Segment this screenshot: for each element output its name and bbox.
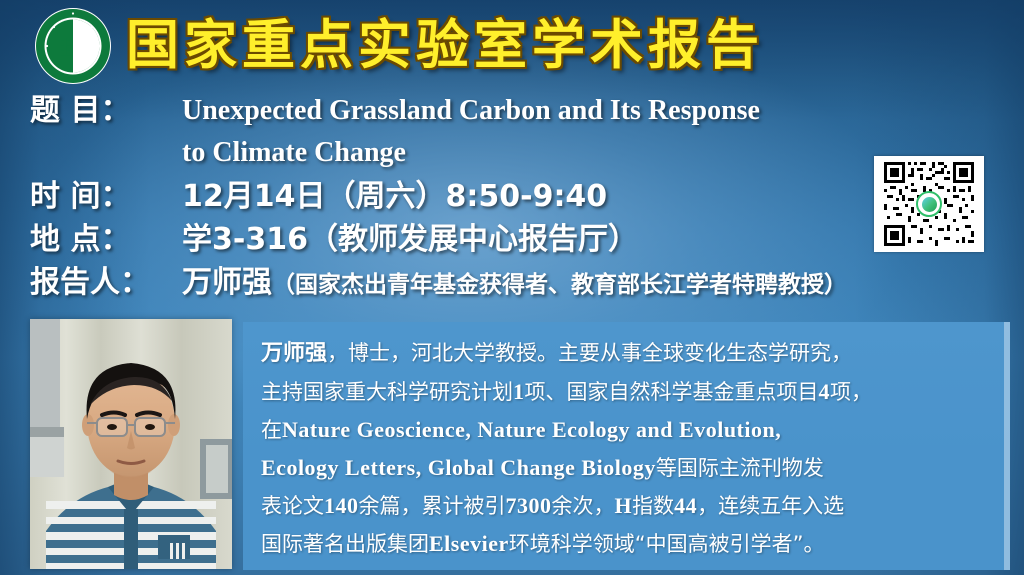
time-value: 12月14日（周六）8:50-9:40	[182, 176, 990, 217]
speaker-name: 万师强	[182, 265, 272, 300]
wechat-brand-icon-inner	[922, 197, 937, 212]
bio-line-1: 万师强，博士，河北大学教授。主要从事全球变化生态学研究，	[261, 334, 986, 373]
bio-line-2-num-2: 4	[819, 379, 831, 404]
bio-speaker-name: 万师强	[261, 341, 327, 366]
speaker-value: 万师强（国家杰出青年基金获得者、教育部长江学者特聘教授）	[182, 262, 990, 306]
speaker-portrait	[30, 319, 232, 569]
place-value: 学3-316（教师发展中心报告厅）	[182, 219, 990, 260]
info-row-time: 时 间： 12月14日（周六）8:50-9:40	[30, 176, 990, 217]
bio-line-2-b: 项、国家自然科学基金重点项目	[525, 380, 819, 404]
poster-header: 国家重点实验室学术报告	[0, 0, 1024, 92]
bio-line-4: Ecology Letters, Global Change Biology等国…	[261, 449, 986, 487]
bio-line-5-e: ，连续五年入选	[697, 494, 844, 518]
event-info: 题 目： Unexpected Grassland Carbon and Its…	[30, 90, 990, 308]
bio-journals-2: Ecology Letters, Global Change Biology	[261, 455, 656, 480]
bio-line-1-rest: ，博士，河北大学教授。主要从事全球变化生态学研究，	[327, 341, 852, 365]
bio-journals-1: Nature Geoscience, Nature Ecology and Ev…	[282, 417, 781, 442]
bio-line-2: 主持国家重大科学研究计划1项、国家自然科学基金重点项目4项，	[261, 373, 986, 411]
topic-value: Unexpected Grassland Carbon and Its Resp…	[182, 90, 982, 174]
bio-line-5-b: 余篇，累计被引	[359, 494, 506, 518]
bio-line-5: 表论文140余篇，累计被引7300余次，H指数44，连续五年入选	[261, 487, 986, 525]
bio-line-6-b: 环境科学领域“中国高被引学者”。	[509, 532, 825, 556]
wechat-qr-code[interactable]	[874, 156, 984, 252]
bio-line-6-a: 国际著名出版集团	[261, 532, 429, 556]
bio-line-5-c: 余次，	[552, 494, 615, 518]
time-label: 时 间：	[30, 176, 182, 217]
topic-line-2: to Climate Change	[182, 132, 982, 174]
seminar-poster: 国家重点实验室学术报告 题 目： Unexpected Grassland Ca…	[0, 0, 1024, 575]
place-label: 地 点：	[30, 219, 182, 260]
info-row-speaker: 报告人： 万师强（国家杰出青年基金获得者、教育部长江学者特聘教授）	[30, 262, 990, 306]
bio-line-6: 国际著名出版集团Elsevier环境科学领域“中国高被引学者”。	[261, 525, 986, 563]
bio-citation-count: 7300	[506, 493, 552, 518]
university-logo	[34, 7, 112, 85]
bio-line-5-d: 指数	[632, 494, 674, 518]
bio-line-4-cn: 等国际主流刊物发	[656, 456, 824, 480]
bio-line-3-a: 在	[261, 418, 282, 442]
info-row-topic: 题 目： Unexpected Grassland Carbon and Its…	[30, 90, 990, 174]
bio-line-5-a: 表论文	[261, 494, 324, 518]
info-row-place: 地 点： 学3-316（教师发展中心报告厅）	[30, 219, 990, 260]
bio-line-2-c: 项，	[830, 380, 872, 404]
bio-publisher: Elsevier	[429, 531, 509, 556]
wechat-brand-icon	[916, 191, 942, 217]
page-title: 国家重点实验室学术报告	[126, 8, 916, 84]
topic-line-1: Unexpected Grassland Carbon and Its Resp…	[182, 90, 982, 132]
speaker-credentials: （国家杰出青年基金获得者、教育部长江学者特聘教授）	[272, 272, 847, 298]
bio-line-2-a: 主持国家重大科学研究计划	[261, 380, 513, 404]
speaker-label: 报告人：	[30, 262, 182, 303]
bio-h-index: 44	[674, 493, 697, 518]
speaker-bio-box: 万师强，博士，河北大学教授。主要从事全球变化生态学研究， 主持国家重大科学研究计…	[243, 322, 1010, 570]
topic-label: 题 目：	[30, 90, 182, 131]
bio-h-label: H	[615, 493, 633, 518]
bio-line-3: 在Nature Geoscience, Nature Ecology and E…	[261, 411, 986, 449]
bio-line-2-num-1: 1	[513, 379, 525, 404]
bio-paper-count: 140	[324, 493, 359, 518]
